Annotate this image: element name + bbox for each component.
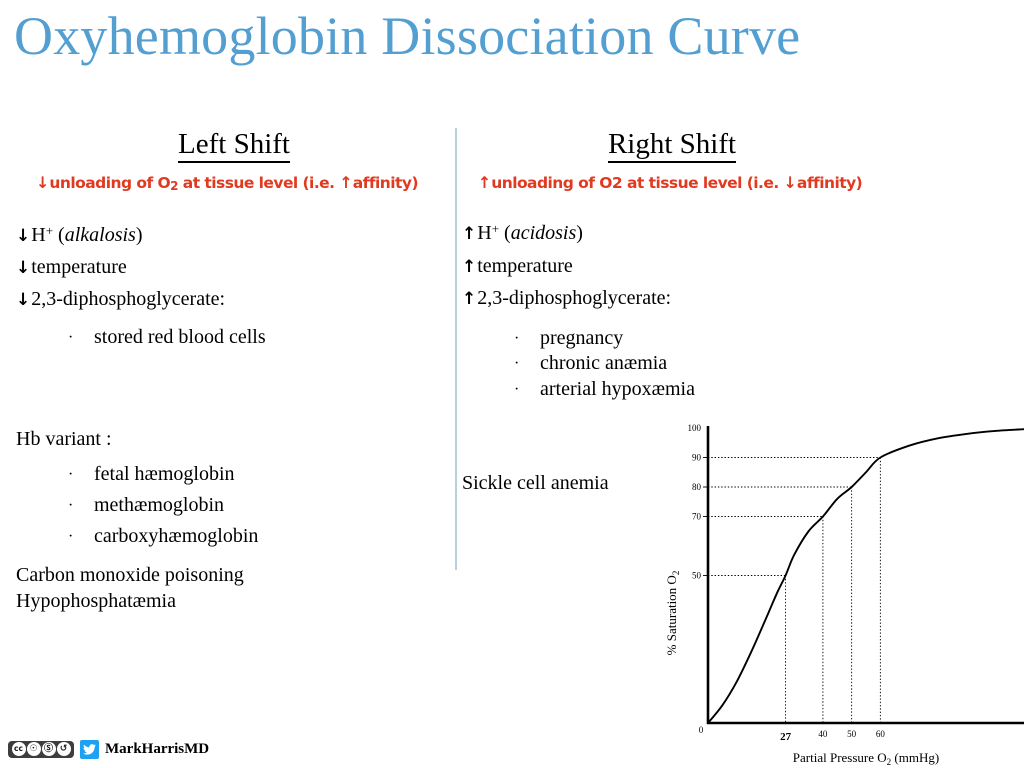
- cc-by-attribution-icon: ☉: [27, 742, 41, 756]
- right-shift-heading-text: Right Shift: [608, 128, 736, 163]
- x-tick-label: 0: [699, 725, 704, 735]
- factor-superscript: +: [46, 223, 53, 238]
- paren-open: (: [53, 224, 65, 246]
- cc-nc-noncommercial-icon: Ⓢ: [42, 742, 56, 756]
- left-sub-bullet-list: ·stored red blood cells: [68, 325, 448, 351]
- bullet-dot-icon: ·: [68, 525, 94, 550]
- factor-label: temperature: [31, 256, 127, 278]
- chart-tick-labels: 50708090100027405060: [688, 423, 886, 743]
- left-shift-heading-text: Left Shift: [178, 128, 290, 163]
- factor-label: H: [31, 224, 45, 246]
- x-axis-title: Partial Pressure O2 (mmHg): [793, 750, 939, 767]
- tail-line: Hypophosphatæmia: [16, 588, 448, 614]
- x-tick-label: 27: [780, 731, 792, 743]
- list-item: ↓2,3-diphosphoglycerate:: [16, 283, 448, 315]
- bullet-dot-icon: ·: [68, 494, 94, 519]
- hb-variant-label: Hb variant :: [16, 426, 448, 452]
- y-tick-label: 90: [692, 453, 702, 463]
- up-arrow-icon: ↑: [462, 224, 476, 244]
- y-tick-label: 80: [692, 482, 702, 492]
- right-sub-bullet-list: ·pregnancy ·chronic anæmia ·arterial hyp…: [514, 326, 882, 403]
- y-axis-title: % Saturation O2: [664, 571, 681, 656]
- down-arrow-icon: ↓: [784, 173, 797, 192]
- bullet-dot-icon: ·: [514, 380, 540, 400]
- paren-close: ): [576, 222, 583, 244]
- factor-label: H: [477, 222, 491, 244]
- list-item: ·stored red blood cells: [68, 325, 448, 351]
- oxyhemoglobin-dissociation-chart: 50708090100027405060 Partial Pressure O2…: [660, 418, 1024, 768]
- chart-guide-lines: [708, 458, 880, 724]
- left-shift-heading: Left Shift: [14, 128, 454, 161]
- sub-bullet-label: pregnancy: [540, 327, 623, 349]
- twitter-handle: MarkHarrisMD: [105, 741, 209, 758]
- twitter-icon[interactable]: [80, 740, 99, 759]
- list-item: ·carboxyhæmoglobin: [68, 521, 448, 552]
- sub-bullet-label: chronic anæmia: [540, 352, 667, 374]
- down-arrow-icon: ↓: [16, 258, 30, 278]
- paren-close: ): [136, 224, 143, 246]
- right-subtitle-text-a: unloading of O2 at tissue level (i.e.: [491, 174, 783, 192]
- factor-italic-note: acidosis: [511, 222, 577, 244]
- left-tail-lines: Carbon monoxide poisoning Hypophosphatæm…: [16, 562, 448, 614]
- x-tick-label: 50: [847, 729, 857, 739]
- list-item: ·pregnancy: [514, 326, 882, 352]
- right-shift-subtitle: ↑unloading of O2 at tissue level (i.e. ↓…: [458, 173, 882, 192]
- x-tick-label: 40: [818, 729, 828, 739]
- page-title: Oxyhemoglobin Dissociation Curve: [14, 8, 1010, 65]
- column-divider: [455, 128, 457, 570]
- up-arrow-icon: ↑: [339, 173, 352, 192]
- down-arrow-icon: ↓: [16, 226, 30, 246]
- factor-label: temperature: [477, 255, 573, 277]
- left-subtitle-subscript: 2: [170, 180, 178, 194]
- list-item: ·methæmoglobin: [68, 490, 448, 521]
- left-subtitle-text-c: affinity): [353, 174, 418, 192]
- factor-label: 2,3-diphosphoglycerate:: [477, 287, 671, 309]
- hb-variant-block: Hb variant : ·fetal hæmoglobin ·methæmog…: [16, 426, 448, 552]
- bullet-dot-icon: ·: [68, 463, 94, 488]
- left-shift-subtitle: ↓unloading of O2 at tissue level (i.e. ↑…: [6, 173, 448, 193]
- tail-line: Carbon monoxide poisoning: [16, 562, 448, 588]
- list-item: ·fetal hæmoglobin: [68, 459, 448, 490]
- cc-sa-sharealike-icon: ↺: [57, 742, 71, 756]
- hb-variant-list: ·fetal hæmoglobin ·methæmoglobin ·carbox…: [68, 459, 448, 552]
- footer-bar: cc ☉ Ⓢ ↺ MarkHarrisMD: [8, 738, 209, 760]
- list-item: ↑H+ (acidosis): [462, 217, 882, 249]
- paren-open: (: [499, 222, 511, 244]
- bullet-dot-icon: ·: [514, 354, 540, 374]
- y-tick-label: 70: [692, 512, 702, 522]
- left-factor-list: ↓H+ (alkalosis) ↓temperature ↓2,3-diphos…: [16, 219, 448, 316]
- saturation-curve: [708, 429, 1024, 723]
- down-arrow-icon: ↓: [36, 173, 49, 192]
- sub-bullet-label: stored red blood cells: [94, 326, 266, 348]
- down-arrow-icon: ↓: [16, 290, 30, 310]
- bullet-dot-icon: ·: [68, 328, 94, 348]
- chart-axes: [707, 426, 1024, 724]
- left-shift-column: Left Shift ↓unloading of O2 at tissue le…: [16, 128, 448, 614]
- hb-variant-item-label: methæmoglobin: [94, 494, 224, 516]
- factor-italic-note: alkalosis: [65, 224, 136, 246]
- creative-commons-license-badge[interactable]: cc ☉ Ⓢ ↺: [8, 741, 74, 758]
- up-arrow-icon: ↑: [462, 257, 476, 277]
- list-item: ↑2,3-diphosphoglycerate:: [462, 282, 882, 314]
- left-subtitle-text-b: at tissue level (i.e.: [178, 174, 339, 192]
- list-item: ↓H+ (alkalosis): [16, 219, 448, 251]
- list-item: ·chronic anæmia: [514, 351, 882, 377]
- left-subtitle-text-a: unloading of O: [49, 174, 170, 192]
- list-item: ↓temperature: [16, 251, 448, 283]
- chart-svg: 50708090100027405060 Partial Pressure O2…: [660, 418, 1024, 768]
- right-factor-list: ↑H+ (acidosis) ↑temperature ↑2,3-diphosp…: [462, 217, 882, 314]
- up-arrow-icon: ↑: [478, 173, 491, 192]
- up-arrow-icon: ↑: [462, 289, 476, 309]
- right-shift-heading: Right Shift: [462, 128, 882, 161]
- cc-icon: cc: [12, 742, 26, 756]
- list-item: ↑temperature: [462, 250, 882, 282]
- factor-label: 2,3-diphosphoglycerate:: [31, 288, 225, 310]
- y-tick-label: 50: [692, 571, 702, 581]
- x-tick-label: 60: [876, 729, 886, 739]
- sub-bullet-label: arterial hypoxæmia: [540, 378, 695, 400]
- bullet-dot-icon: ·: [514, 329, 540, 349]
- hb-variant-item-label: fetal hæmoglobin: [94, 463, 235, 485]
- list-item: ·arterial hypoxæmia: [514, 377, 882, 403]
- right-subtitle-text-c: affinity): [797, 174, 862, 192]
- factor-superscript: +: [492, 222, 499, 237]
- hb-variant-item-label: carboxyhæmoglobin: [94, 525, 258, 547]
- y-tick-label: 100: [688, 423, 702, 433]
